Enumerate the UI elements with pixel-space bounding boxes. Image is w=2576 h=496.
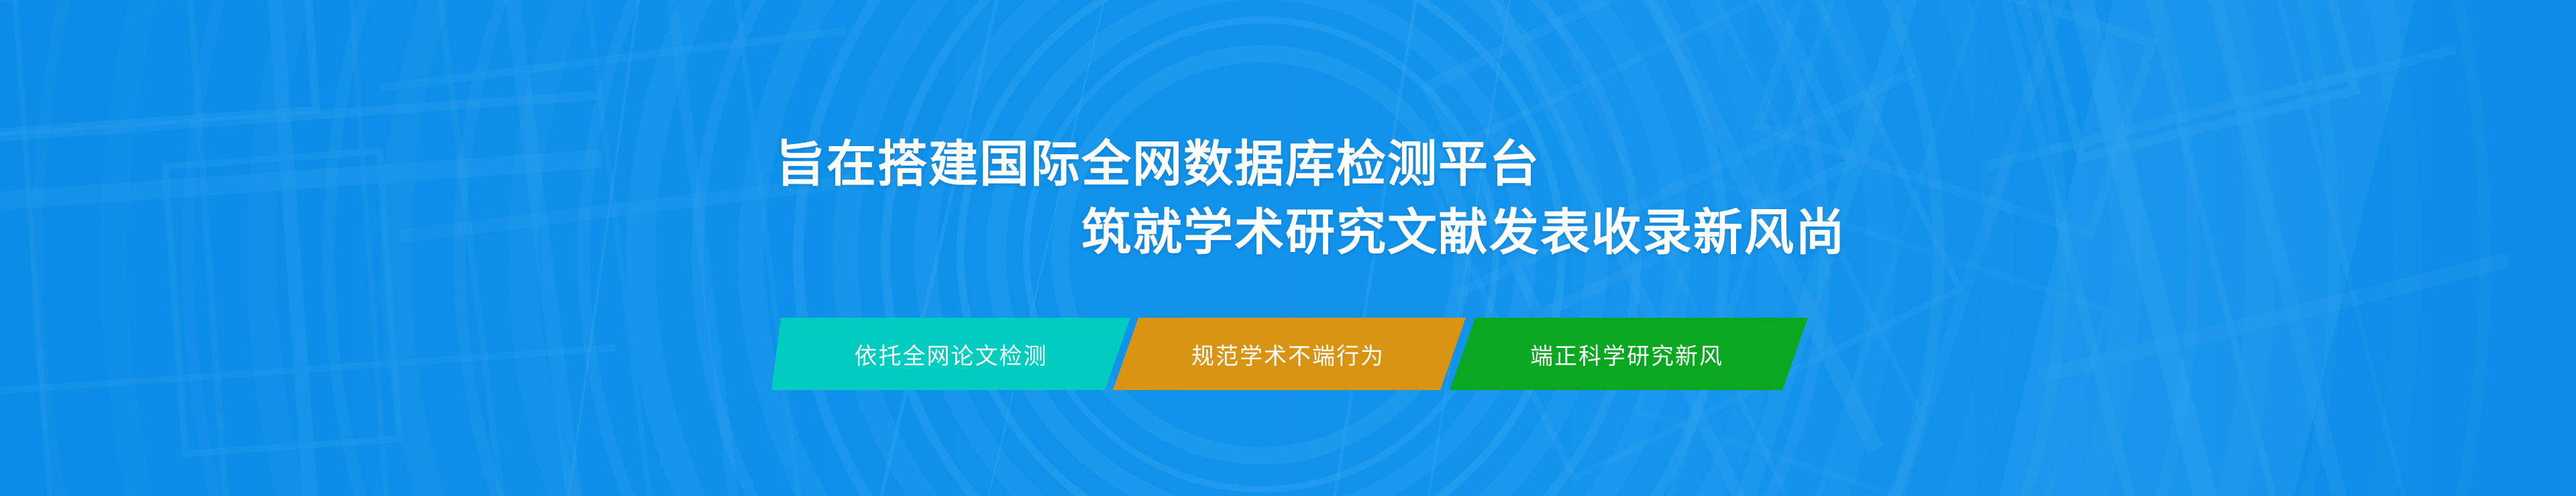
right-rect-cluster-c — [1929, 0, 2576, 496]
right-rect-cluster-a — [1332, 0, 2055, 496]
feature-badge-1[interactable]: 规范学术不端行为 — [1110, 318, 1466, 390]
promo-banner: 旨在搭建国际全网数据库检测平台 筑就学术研究文献发表收录新风尚 依托全网论文检测… — [0, 0, 2576, 496]
feature-badge-label: 端正科学研究新风 — [1530, 338, 1723, 371]
center-grid — [357, 0, 921, 496]
left-grid — [0, 0, 635, 496]
feature-badge-0[interactable]: 依托全网论文检测 — [771, 318, 1130, 390]
headline-block: 旨在搭建国际全网数据库检测平台 筑就学术研究文献发表收录新风尚 — [0, 0, 2576, 496]
hairlines — [563, 0, 1516, 496]
headline-line-1: 旨在搭建国际全网数据库检测平台 — [775, 139, 1540, 189]
background-pattern — [0, 0, 2576, 496]
feature-badge-label: 规范学术不端行为 — [1191, 338, 1385, 371]
feature-badge-2[interactable]: 端正科学研究新风 — [1446, 318, 1808, 390]
headline-line-2: 筑就学术研究文献发表收录新风尚 — [1081, 208, 1846, 257]
feature-badge-group: 依托全网论文检测 规范学术不端行为 端正科学研究新风 — [771, 318, 1808, 390]
right-rect-cluster-b — [1608, 0, 2211, 496]
feature-badge-label: 依托全网论文检测 — [855, 338, 1048, 371]
concentric-arcs — [37, 0, 2485, 496]
right-glow — [1999, 0, 2415, 496]
